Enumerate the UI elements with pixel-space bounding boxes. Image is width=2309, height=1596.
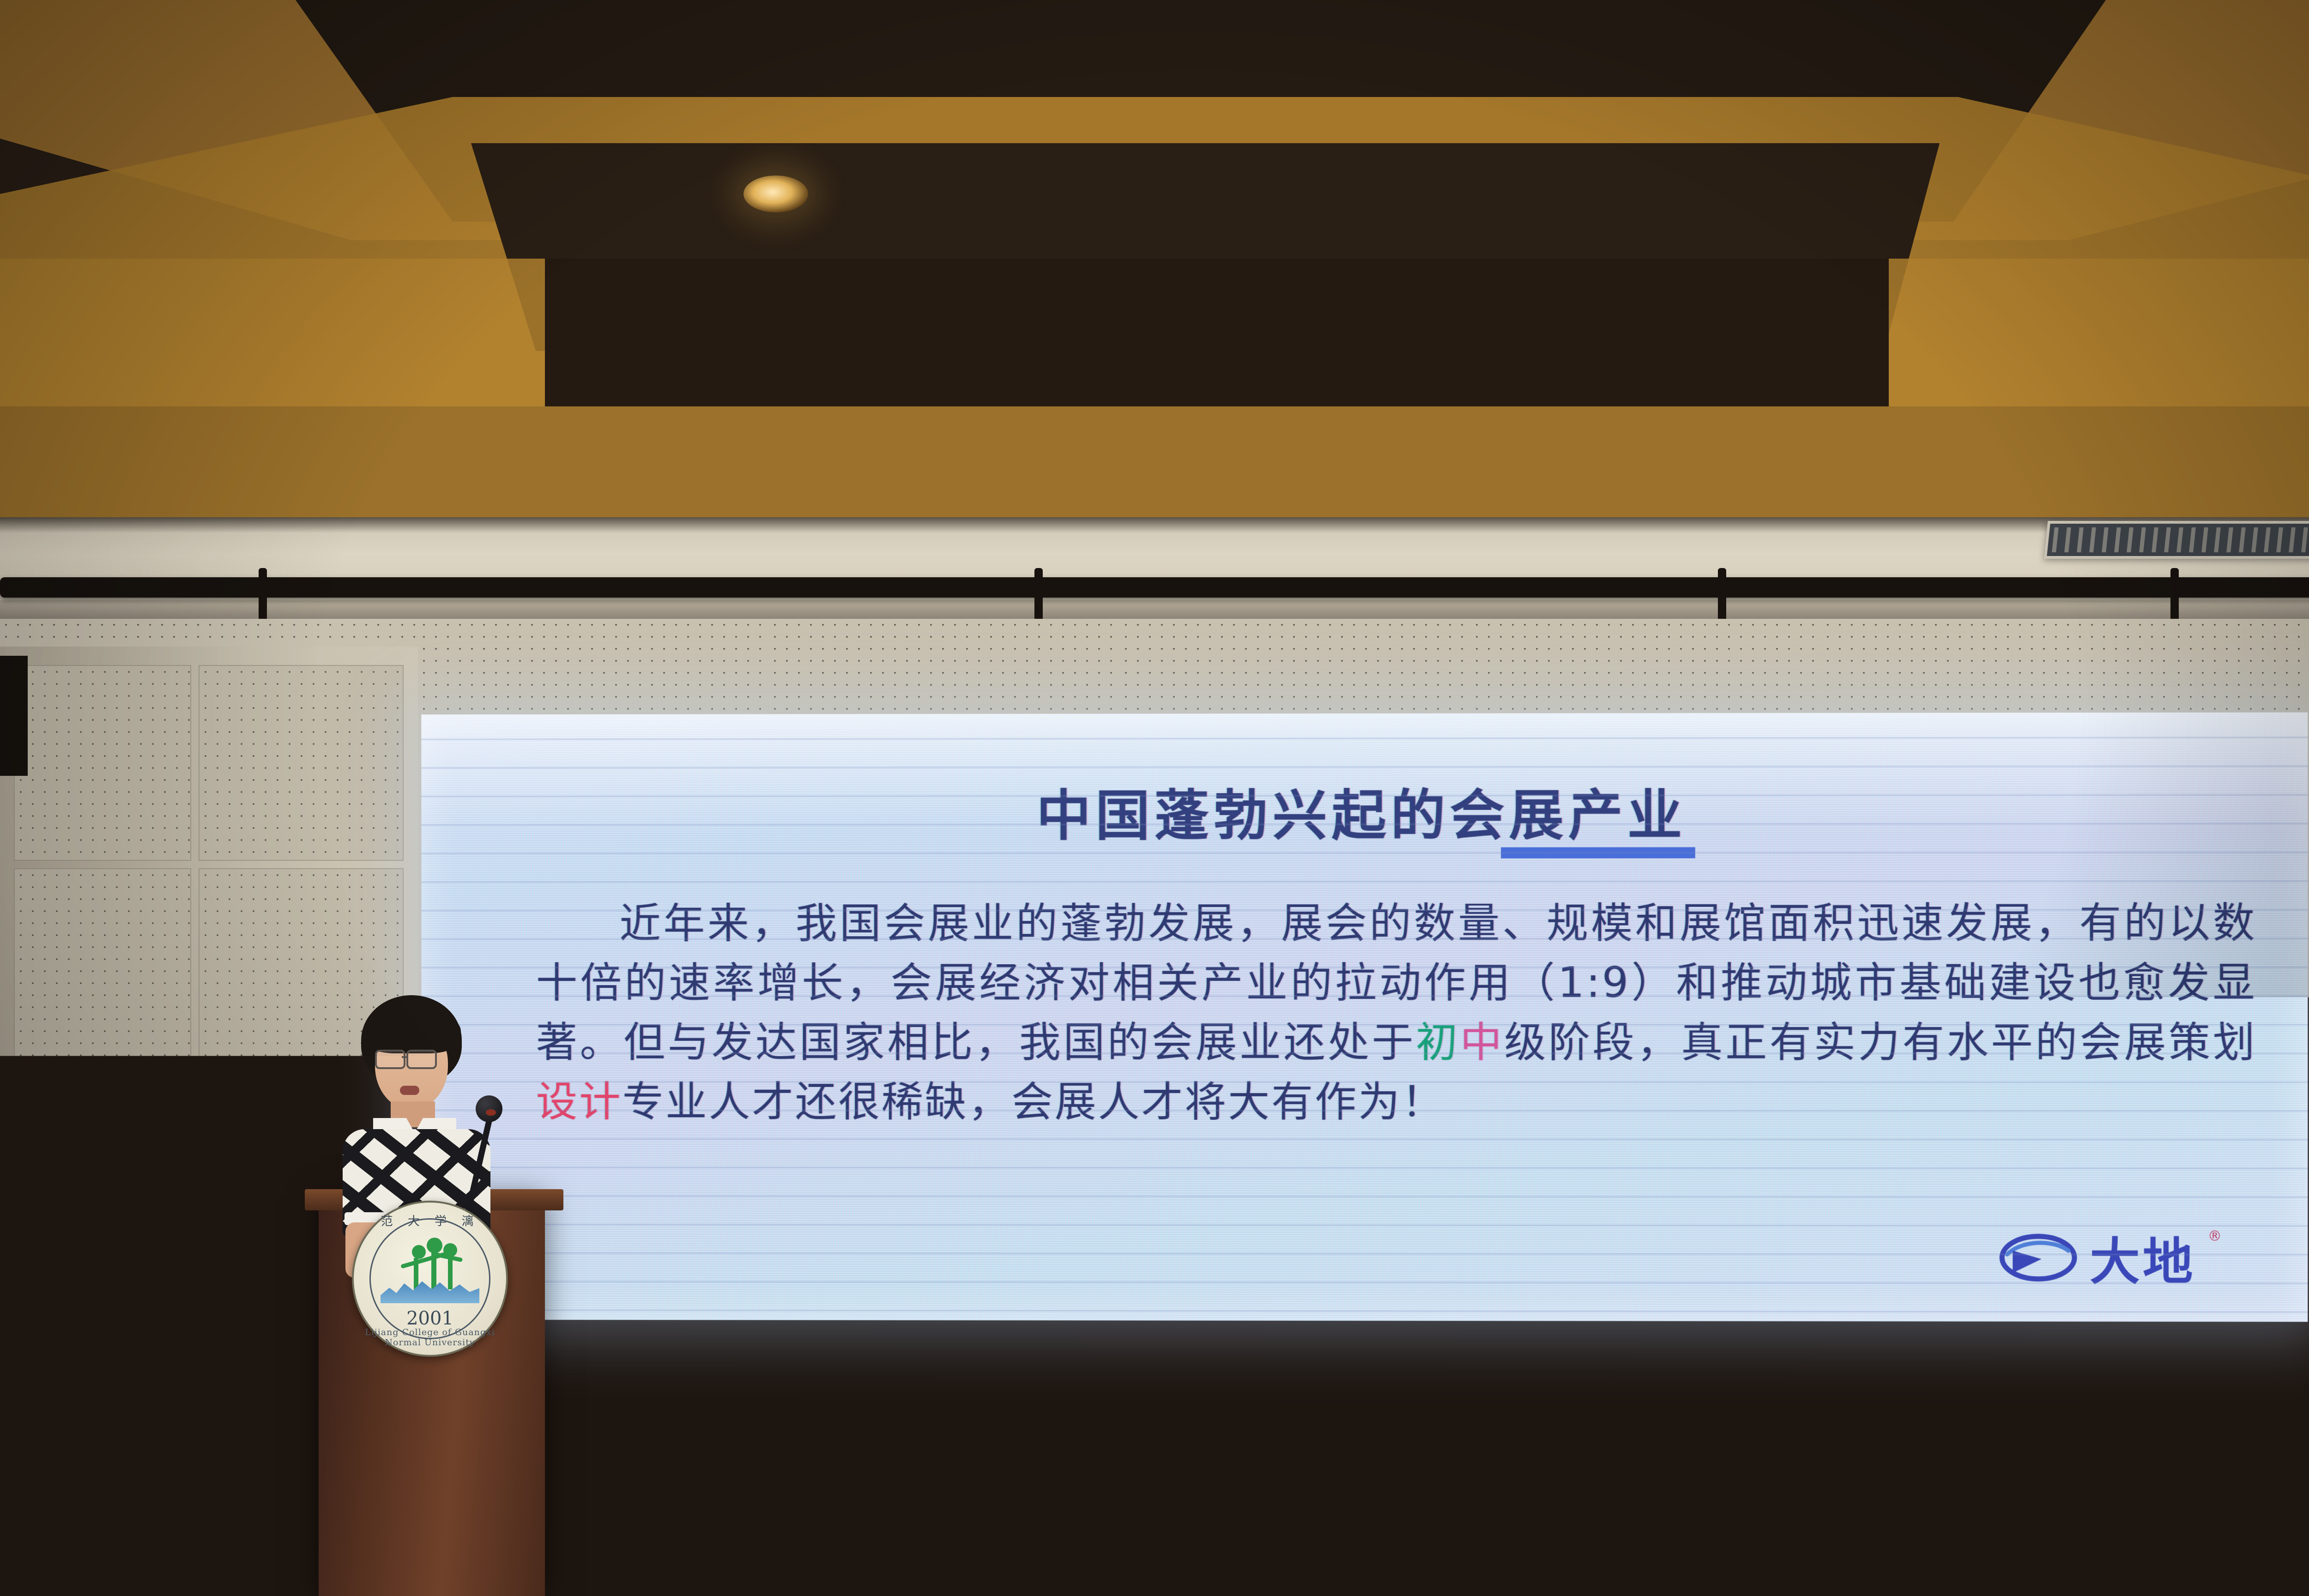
ceiling-coffer-dark-3 (545, 259, 1889, 406)
led-module-seam (421, 1195, 2308, 1198)
led-module-seam (421, 995, 2308, 997)
vent-slat (2189, 527, 2196, 552)
vent-slat (2264, 527, 2271, 552)
slide-body-run-4: 设计 (536, 1078, 623, 1126)
ac-diffuser-vent-icon (2044, 521, 2309, 559)
bottle-label (1381, 1542, 1396, 1565)
vent-slat (2102, 527, 2109, 552)
led-module-seam (421, 1138, 2308, 1141)
vent-slat (2089, 527, 2096, 552)
led-module-seam (421, 880, 2308, 883)
bottle-cap (2279, 1510, 2294, 1522)
vent-slat (2251, 527, 2258, 552)
vent-slat (2127, 527, 2134, 552)
audience-head-1 (1579, 1473, 1686, 1570)
vent-slat (2226, 527, 2233, 552)
chair-back-red-1 (683, 1561, 734, 1596)
chair-back-light-2 (1168, 1566, 1418, 1596)
vent-slat (2289, 527, 2296, 552)
left-wall-shadow (0, 656, 28, 776)
acoustic-panel-side (14, 868, 191, 1110)
conference-hall-photo: 中国蓬勃兴起的会展产业 近年来，我国会展业的蓬勃发展，展会的数量、规模和展馆面积… (0, 0, 2309, 1596)
led-module-seam (421, 1309, 2308, 1313)
audience-head-3 (2050, 1538, 2147, 1596)
vent-slat (2077, 527, 2084, 552)
emblem-figure-body-center (431, 1252, 436, 1290)
vent-slat (2152, 527, 2158, 552)
recessed-downlight-icon (743, 175, 808, 212)
audience-shoulders-1 (1510, 1556, 1759, 1596)
university-emblem: 范 大 学 漓 2001 Lijiang College of Guangxi … (352, 1201, 508, 1357)
vent-slat (2064, 527, 2071, 552)
emblem-chinese-name: 范 大 学 漓 (354, 1212, 506, 1229)
emblem-figure-head-left (412, 1245, 426, 1259)
slide-body-text: 近年来，我国会展业的蓬勃发展，展会的数量、规模和展馆面积迅速发展，有的以数十倍的… (536, 893, 2257, 1132)
audience-shoulders-2 (1843, 1561, 2083, 1596)
led-module-seam (421, 1167, 2308, 1169)
led-display-screen: 中国蓬勃兴起的会展产业 近年来，我国会展业的蓬勃发展，展会的数量、规模和展馆面积… (421, 713, 2308, 1322)
emblem-figure-head-center (427, 1238, 442, 1253)
bottle-cap (1123, 1510, 1137, 1522)
bottle-label (1123, 1544, 1137, 1567)
water-bottle-1 (772, 1517, 792, 1586)
ceiling (0, 0, 2309, 545)
bottle-cap (775, 1517, 790, 1529)
led-module-seam (421, 852, 2308, 855)
chair-back-light-1 (873, 1566, 1131, 1596)
vent-slat (2239, 527, 2246, 552)
service-access-hatch (1360, 1346, 1435, 1447)
truss-bar-upper (0, 577, 2309, 598)
slide-body-run-5: 专业人才还很稀缺，会展人才将大有作为！ (623, 1078, 1445, 1126)
vent-slat (2139, 527, 2146, 552)
eyeglasses-lens-left-icon (375, 1050, 405, 1069)
emblem-english-name: Lijiang College of Guangxi Normal Univer… (354, 1327, 506, 1348)
bottle-label (775, 1551, 790, 1574)
led-module-seam (421, 1024, 2308, 1026)
speaker-hair-front (363, 1009, 461, 1053)
speaker-mouth (400, 1086, 419, 1095)
slide-title: 中国蓬勃兴起的会展产业 (421, 770, 2308, 851)
bottle-cap (1381, 1508, 1396, 1520)
vent-slat (2301, 527, 2308, 552)
microphone-ring (486, 1109, 496, 1116)
soffit-shadow (0, 517, 2309, 533)
emblem-founding-year: 2001 (354, 1308, 506, 1329)
vent-slat (2052, 527, 2059, 552)
emblem-figure-body-right (448, 1256, 453, 1289)
vent-slat (2276, 527, 2283, 552)
led-module-seam (421, 967, 2308, 969)
led-module-seam (421, 1052, 2308, 1055)
vent-slat (2114, 527, 2121, 552)
eyeglasses-bridge (402, 1056, 407, 1058)
eyeglasses-lens-right-icon (406, 1050, 437, 1069)
dadi-swoosh-icon (1999, 1230, 2078, 1285)
vent-slat (2214, 527, 2221, 552)
vent-slat (2201, 527, 2208, 552)
acoustic-panel-side (14, 665, 191, 861)
acoustic-panel-side (199, 665, 404, 861)
emblem-figure-body-left (414, 1258, 418, 1289)
vent-slat (2164, 527, 2171, 552)
trademark-symbol: ® (2208, 1228, 2222, 1244)
vent-slat (2176, 527, 2183, 552)
microphone-icon (476, 1095, 502, 1122)
